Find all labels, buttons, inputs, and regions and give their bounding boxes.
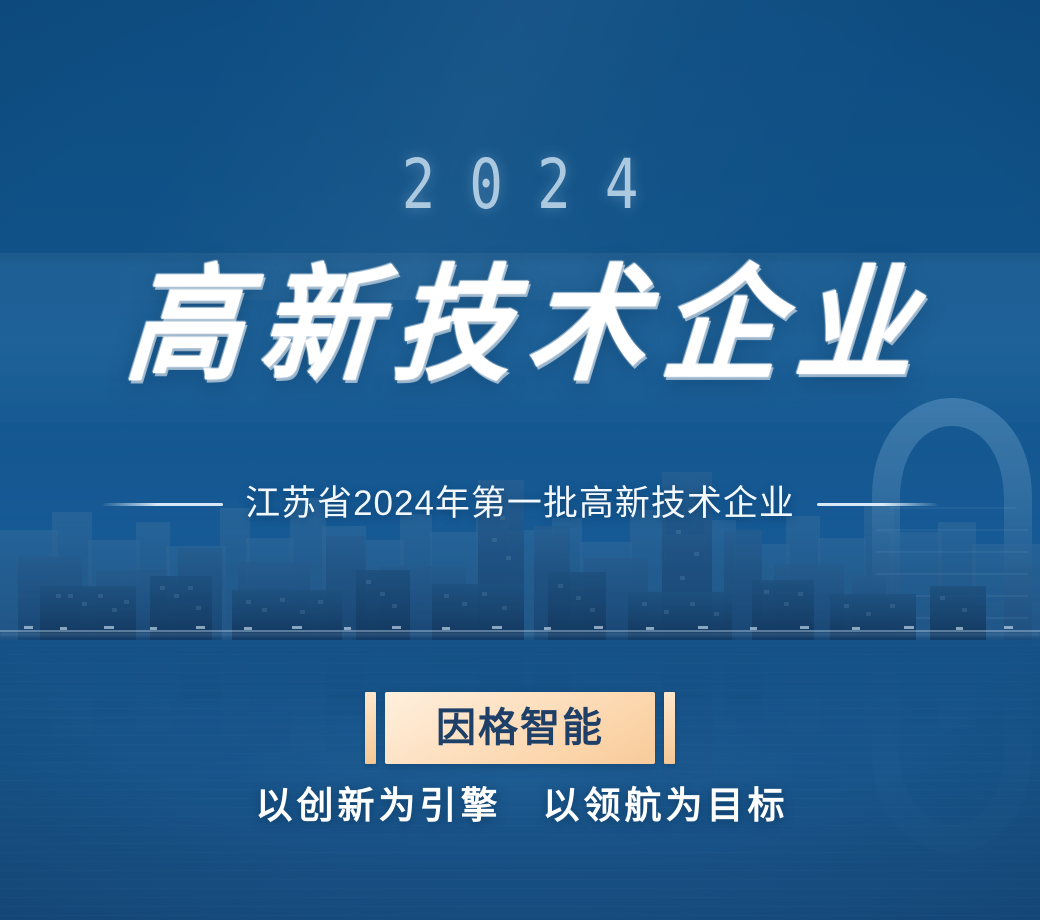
badge-tick-right-outer xyxy=(664,692,675,764)
badge-tick-left-outer xyxy=(365,692,376,764)
rule-left-decoration xyxy=(103,503,223,506)
subtitle-text: 江苏省2024年第一批高新技术企业 xyxy=(245,484,795,524)
subtitle-row: 江苏省2024年第一批高新技术企业 xyxy=(0,484,1040,524)
poster-canvas: 2024 高新技术企业 江苏省2024年第一批高新技术企业 因格智能 以创新为引… xyxy=(0,0,1040,920)
main-headline: 高新技术企业 xyxy=(0,258,1040,392)
badge-company-name: 因格智能 xyxy=(436,706,604,750)
rule-right-decoration xyxy=(817,503,937,506)
tagline-text: 以创新为引擎 以领航为目标 xyxy=(0,784,1040,828)
year-label: 2024 xyxy=(0,152,1040,220)
poster-content: 2024 高新技术企业 江苏省2024年第一批高新技术企业 因格智能 以创新为引… xyxy=(0,0,1040,920)
brand-badge: 因格智能 xyxy=(0,692,1040,764)
badge-plate: 因格智能 xyxy=(385,692,655,764)
